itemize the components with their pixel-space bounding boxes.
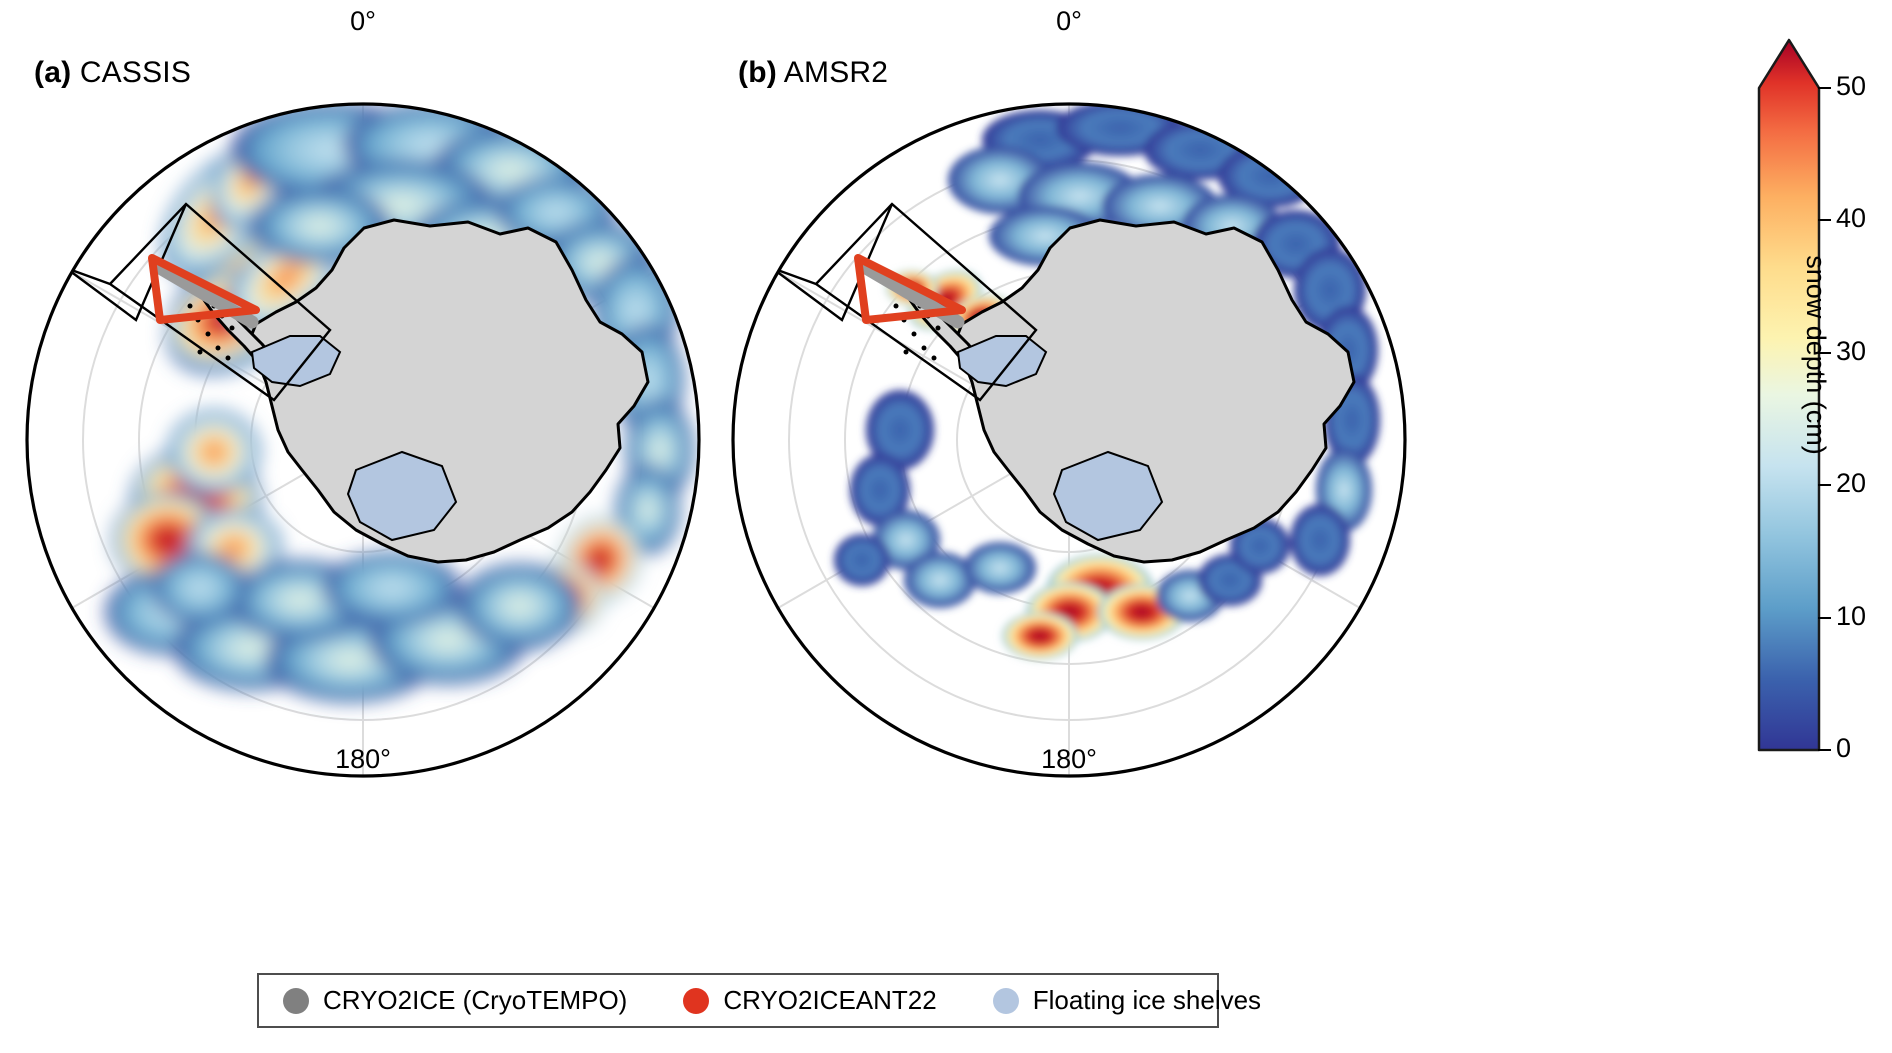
panel-name-a: CASSIS bbox=[80, 56, 191, 89]
colorbar-tick-label: 10 bbox=[1836, 601, 1866, 632]
colorbar-axis-label: snow depth (cm) bbox=[1794, 0, 1838, 710]
maps-svg bbox=[0, 0, 1892, 1053]
lon-label-180-a: 180° bbox=[305, 744, 421, 775]
coast-dots-b bbox=[730, 107, 847, 271]
colorbar-tick-label: 50 bbox=[1836, 71, 1866, 102]
legend-label: CRYO2ICE (CryoTEMPO) bbox=[323, 985, 627, 1016]
legend-item: Floating ice shelves bbox=[993, 985, 1261, 1016]
figure-canvas: (a) CASSIS (b) AMSR2 0° 180° 0° 180° 010… bbox=[0, 0, 1892, 1053]
legend-item: CRYO2ICEANT22 bbox=[683, 985, 936, 1016]
map-panel-amsr2 bbox=[730, 100, 1405, 776]
legend-marker-dot bbox=[993, 988, 1019, 1014]
legend-marker-dot bbox=[283, 988, 309, 1014]
legend-label: Floating ice shelves bbox=[1033, 985, 1261, 1016]
lon-label-0-a: 0° bbox=[305, 6, 421, 37]
legend-item: CRYO2ICE (CryoTEMPO) bbox=[283, 985, 627, 1016]
legend: CRYO2ICE (CryoTEMPO)CRYO2ICEANT22Floatin… bbox=[257, 973, 1219, 1028]
panel-name-b: AMSR2 bbox=[784, 56, 888, 89]
panel-title-a: (a) CASSIS bbox=[34, 56, 191, 90]
panel-tag-a: (a) bbox=[34, 56, 71, 89]
panel-tag-b: (b) bbox=[738, 56, 777, 89]
lon-label-180-b: 180° bbox=[1011, 744, 1127, 775]
colorbar-tick-mark bbox=[1818, 749, 1831, 751]
map-panel-cassis bbox=[24, 102, 699, 776]
colorbar-tick-label: 20 bbox=[1836, 468, 1866, 499]
colorbar-tick-label: 40 bbox=[1836, 203, 1866, 234]
coast-dots-a bbox=[24, 107, 141, 271]
colorbar-tick-label: 30 bbox=[1836, 336, 1866, 367]
colorbar-tick-label: 0 bbox=[1836, 733, 1851, 764]
legend-marker-dot bbox=[683, 988, 709, 1014]
panel-title-b: (b) AMSR2 bbox=[738, 56, 888, 90]
legend-label: CRYO2ICEANT22 bbox=[723, 985, 936, 1016]
lon-label-0-b: 0° bbox=[1011, 6, 1127, 37]
